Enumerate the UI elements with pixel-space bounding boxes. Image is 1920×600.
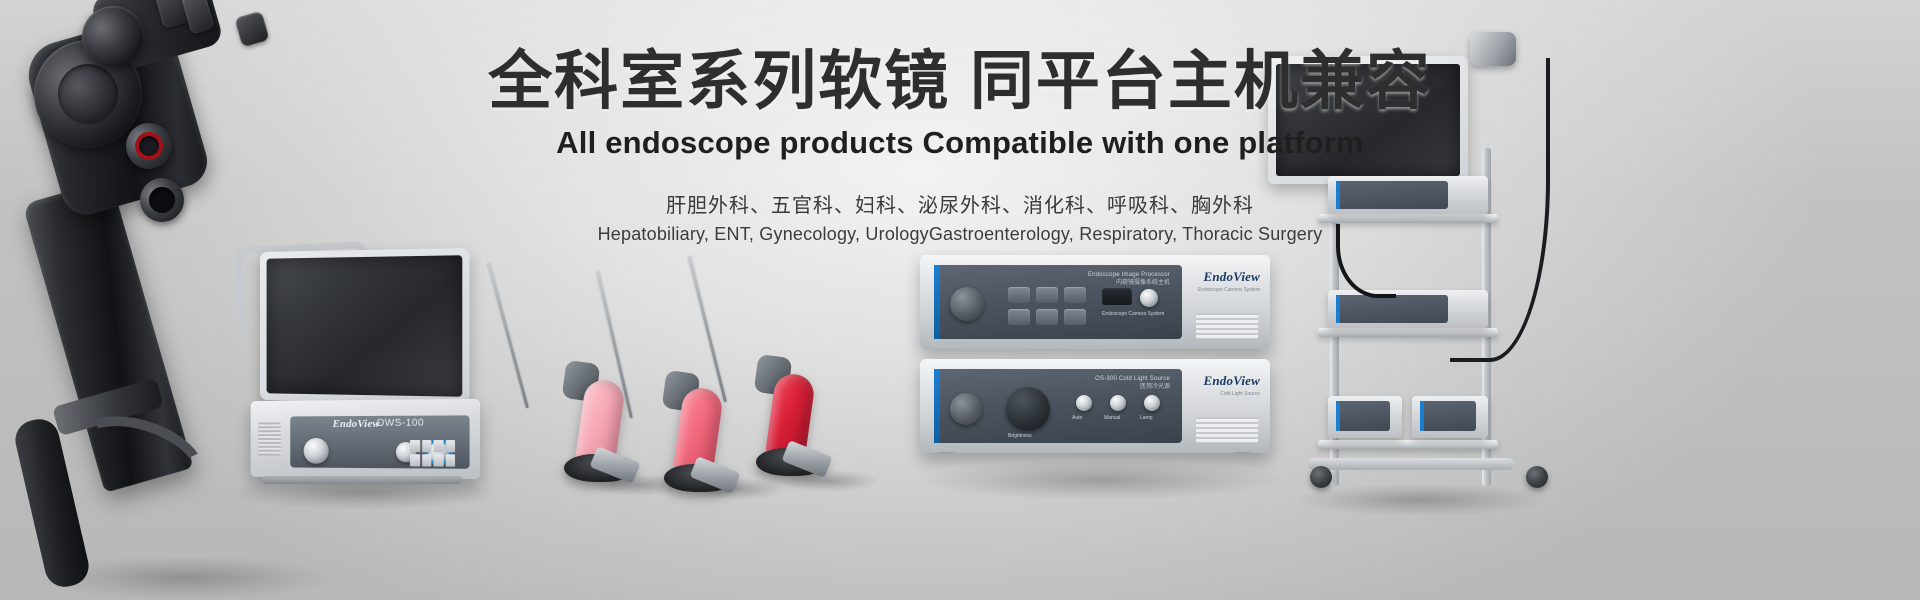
camera-system-brand-sub: Endoscope Camera System [1186,287,1260,293]
workstation-screen-glass [267,255,463,397]
promo-banner: 全科室系列软镜 同平台主机兼容 All endoscope products C… [0,0,1920,600]
workstation-base-unit: EndoView OWS-100 [251,399,480,479]
page-title-chinese: 全科室系列软镜 同平台主机兼容 [0,48,1920,115]
camera-system-titles: Endoscope Image Processor 内窥镜摄像系统主机 [1088,272,1170,287]
accent-strip [934,369,940,443]
workstation-foot [262,476,462,484]
light-source-brand-sub: Cold Light Source [1186,391,1260,397]
page-title-english: All endoscope products Compatible with o… [0,125,1920,161]
camera-system-scope-socket [950,287,984,321]
light-source-vent [1196,417,1258,443]
camera-system-display [1102,287,1132,305]
stack-foot-left [938,452,956,453]
cart-unit-face [1420,401,1476,431]
product-endoscope-workstation: EndoView OWS-100 [232,250,482,490]
accent-strip [1420,401,1424,431]
light-source-button-manual[interactable] [1110,395,1126,411]
workstation-keypad [410,440,455,467]
product-rigid-instrument-3 [712,252,832,482]
light-source-label-manual: Manual [1104,415,1120,421]
light-source-knob-label: Brightness [1008,433,1032,439]
cart-caster-right [1526,466,1548,488]
cart-shelf-3 [1318,440,1498,449]
workstation-display [260,248,470,404]
camera-system-button-6 [1064,309,1086,325]
camera-system-vent [1196,313,1258,339]
light-source-label-auto: Auto [1072,415,1082,421]
camera-system-brand-area: EndoView Endoscope Camera System [1186,269,1260,293]
camera-system-button-wb [1036,287,1058,303]
camera-system-button-4 [1008,309,1030,325]
light-source-titles: OS-300 Cold Light Source 医用冷光源 [1095,376,1170,391]
workstation-vent [258,422,281,455]
camera-system-sub-label: Endoscope Camera System [1102,311,1164,317]
camera-system-button-menu [1008,287,1030,303]
product-processor-stack: Endoscope Image Processor 内窥镜摄像系统主机 Endo… [920,255,1270,470]
instrument-shaft [487,263,529,409]
light-source-brightness-knob[interactable] [1006,387,1050,431]
camera-system-button-5 [1036,309,1058,325]
cart-unit-face [1336,401,1390,431]
camera-system-unit: Endoscope Image Processor 内窥镜摄像系统主机 Endo… [920,255,1270,349]
light-source-scope-socket [950,393,982,425]
workstation-brand-label: EndoView [333,418,380,430]
workstation-scope-port [304,438,329,464]
light-source-unit: OS-300 Cold Light Source 医用冷光源 Brightnes… [920,359,1270,453]
cart-caster-left [1310,466,1332,488]
light-source-title-cn: 医用冷光源 [1095,384,1170,392]
light-source-button-lamp[interactable] [1144,395,1160,411]
specialties-chinese: 肝胆外科、五官科、妇科、泌尿外科、消化科、呼吸科、胸外科 [0,189,1920,218]
accent-strip [1336,295,1340,323]
light-source-title-en: OS-300 Cold Light Source [1095,376,1170,384]
camera-system-button-rec [1064,287,1086,303]
cart-base [1308,458,1514,470]
camera-system-front-panel: Endoscope Image Processor 内窥镜摄像系统主机 Endo… [934,265,1182,339]
light-source-label-lamp: Lamp [1140,415,1153,421]
camera-system-brand: EndoView [1186,269,1260,285]
workstation-model-label: OWS-100 [376,418,424,429]
cart-unit-recorder [1412,396,1488,438]
workstation-control-panel: EndoView OWS-100 [290,415,469,468]
light-source-button-auto[interactable] [1076,395,1092,411]
cart-unit-insufflator [1328,396,1402,438]
camera-system-title-cn: 内窥镜摄像系统主机 [1088,280,1170,288]
endoscope-button-3 [234,11,269,48]
specialties-english: Hepatobiliary, ENT, Gynecology, UrologyG… [0,224,1920,245]
camera-system-port [1140,289,1158,307]
cart-unit-face [1336,295,1448,323]
light-source-brand-area: EndoView Cold Light Source [1186,373,1260,397]
light-source-front-panel: OS-300 Cold Light Source 医用冷光源 Brightnes… [934,369,1182,443]
headline-block: 全科室系列软镜 同平台主机兼容 All endoscope products C… [0,48,1920,245]
camera-system-title-en: Endoscope Image Processor [1088,272,1170,280]
light-source-brand: EndoView [1186,373,1260,389]
accent-strip [1336,401,1340,431]
accent-strip [934,265,940,339]
stack-foot-right [1234,452,1252,453]
